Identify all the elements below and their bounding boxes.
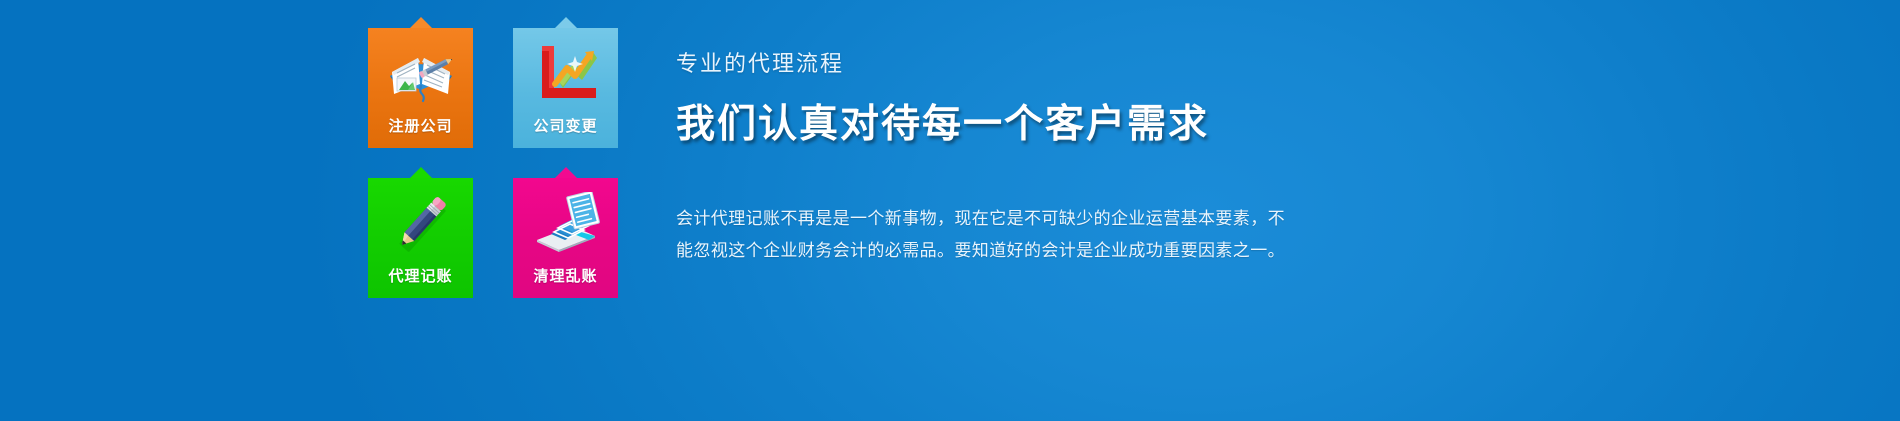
pencil-icon [384,192,458,254]
tile-notch-icon [410,17,432,28]
service-tile-account-cleanup[interactable]: 清理乱账 [513,178,618,298]
tile-notch-icon [555,167,577,178]
paragraph-line-1: 会计代理记账不再是是一个新事物，现在它是不可缺少的企业运营基本要素，不 [676,203,1236,235]
open-book-with-pencil-icon [384,42,458,104]
service-tile-grid: 注册公司 [368,28,618,298]
tile-notch-icon [410,167,432,178]
banner-copy-block: 专业的代理流程 我们认真对待每一个客户需求 会计代理记账不再是是一个新事物，现在… [676,52,1576,267]
tile-notch-icon [555,17,577,28]
chart-arrows-icon [529,42,603,104]
service-tile-company-change[interactable]: 公司变更 [513,28,618,148]
banner-paragraph: 会计代理记账不再是是一个新事物，现在它是不可缺少的企业运营基本要素，不 能忽视这… [676,203,1236,267]
banner-headline: 我们认真对待每一个客户需求 [676,102,1576,147]
document-stack-icon [529,192,603,254]
tile-label: 代理记账 [368,265,473,286]
promo-banner: 注册公司 [0,0,1900,421]
banner-eyebrow: 专业的代理流程 [676,52,1576,78]
service-tile-register-company[interactable]: 注册公司 [368,28,473,148]
tile-label: 清理乱账 [513,265,618,286]
paragraph-line-2: 能忽视这个企业财务会计的必需品。要知道好的会计是企业成功重要因素之一。 [676,235,1236,267]
tile-label: 注册公司 [368,115,473,136]
service-tile-agency-bookkeeping[interactable]: 代理记账 [368,178,473,298]
tile-label: 公司变更 [513,115,618,136]
